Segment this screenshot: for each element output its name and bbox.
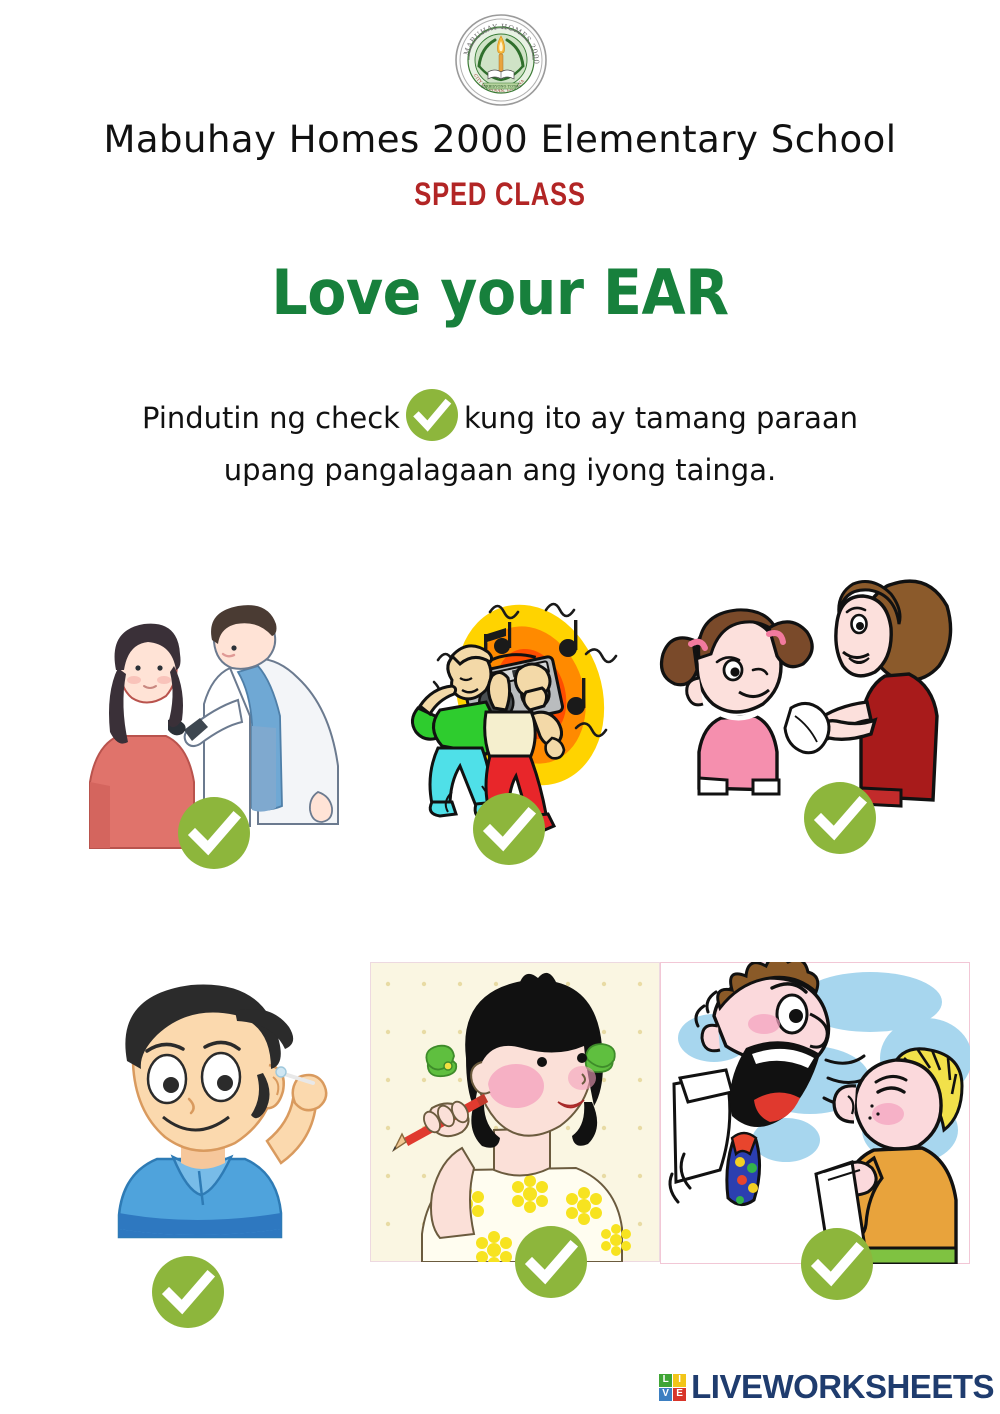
list-item[interactable] — [660, 962, 970, 1292]
green-check-circle-icon — [177, 796, 251, 870]
green-check-circle-icon — [514, 1225, 588, 1299]
green-check-circle-icon — [405, 388, 459, 442]
girl-pencil-in-ear-illustration — [370, 962, 660, 1262]
logo-tile-i: I — [673, 1374, 686, 1387]
logo-tile-e: E — [673, 1388, 686, 1401]
check-badge-item-5[interactable] — [514, 1225, 588, 1304]
green-check-circle-icon — [803, 781, 877, 855]
liveworksheets-brand-text: LIVEWORKSHEETS — [691, 1368, 994, 1406]
list-item[interactable] — [62, 596, 362, 896]
liveworksheets-logo-icon: L I V E — [659, 1374, 686, 1401]
check-badge-item-1[interactable] — [177, 796, 251, 875]
check-badge-item-3[interactable] — [803, 781, 877, 860]
green-check-circle-icon — [800, 1227, 874, 1301]
green-check-circle-icon — [472, 792, 546, 866]
liveworksheets-footer[interactable]: L I V E LIVEWORKSHEETS — [659, 1368, 994, 1406]
logo-tile-l: L — [659, 1374, 672, 1387]
check-badge-item-4[interactable] — [151, 1255, 225, 1334]
list-item[interactable] — [370, 962, 660, 1292]
svg-text:SERBISYONG TOTOO: SERBISYONG TOTOO — [481, 85, 521, 89]
school-seal-icon: MABUHAY HOMES 2000 ELEM SCHOOL CITY OF B… — [455, 14, 547, 106]
list-item[interactable] — [85, 965, 365, 1295]
instruction-text: Pindutin ng checkkung ito ay tamang para… — [95, 388, 905, 496]
list-item[interactable] — [390, 590, 620, 890]
check-badge-item-6[interactable] — [800, 1227, 874, 1306]
page-title: Love your EAR — [40, 256, 960, 329]
school-name-heading: Mabuhay Homes 2000 Elementary School — [0, 118, 1000, 161]
list-item[interactable] — [655, 566, 955, 876]
check-badge-item-2[interactable] — [472, 792, 546, 871]
logo-tile-v: V — [659, 1388, 672, 1401]
man-shouting-at-boy-ear-illustration — [660, 962, 970, 1264]
class-label: SPED CLASS — [100, 176, 900, 213]
green-check-circle-icon — [151, 1255, 225, 1329]
boy-cotton-swab-ear-illustration — [85, 965, 365, 1250]
instruction-text-before: Pindutin ng check — [142, 401, 400, 435]
